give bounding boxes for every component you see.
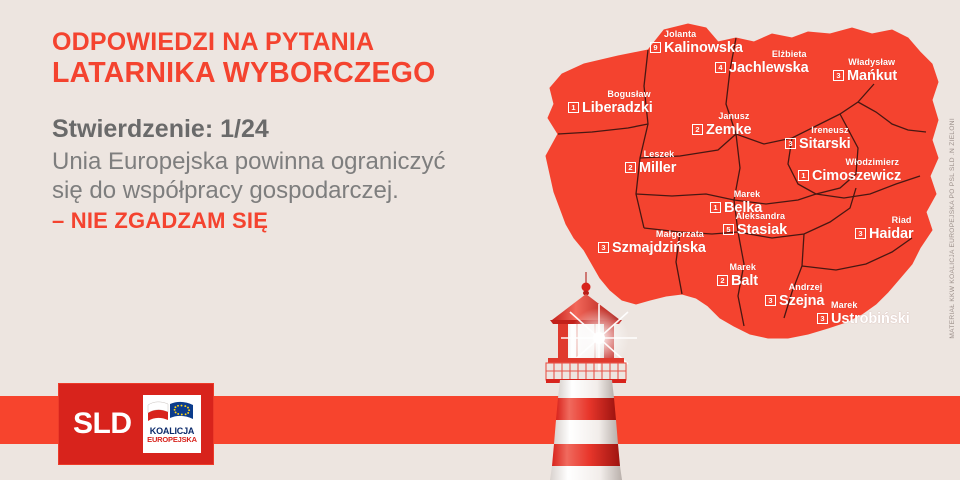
question-text-line-2: się do współpracy gospodarczej. [52, 176, 472, 205]
lighthouse-illustration [520, 272, 652, 480]
question-text-line-1: Unia Europejska powinna ograniczyć [52, 147, 472, 176]
headline-line-2: LATARNIKA WYBORCZEGO [52, 57, 502, 89]
statement-counter: Stwierdzenie: 1/24 [52, 114, 502, 144]
sld-logo: SLD [58, 383, 214, 465]
sponsor-credit: MATERIAŁ KKW KOALICJA EUROPEJSKA PO PSL … [938, 118, 960, 378]
text-column: ODPOWIEDZI NA PYTANIA LATARNIKA WYBORCZE… [52, 28, 502, 234]
sld-wordmark: SLD [59, 407, 143, 441]
answer-text: – NIE ZGADZAM SIĘ [52, 208, 502, 234]
headline-line-1: ODPOWIEDZI NA PYTANIA [52, 28, 502, 57]
poster-canvas: ODPOWIEDZI NA PYTANIA LATARNIKA WYBORCZE… [0, 0, 960, 480]
koalicja-europejska-logo: KOALICJA EUROPEJSKA [143, 395, 201, 453]
sponsor-credit-text: MATERIAŁ KKW KOALICJA EUROPEJSKA PO PSL … [949, 118, 956, 339]
europejska-text: EUROPEJSKA [147, 436, 197, 444]
flags-icon [147, 400, 197, 424]
lighthouse-icon [520, 272, 652, 480]
